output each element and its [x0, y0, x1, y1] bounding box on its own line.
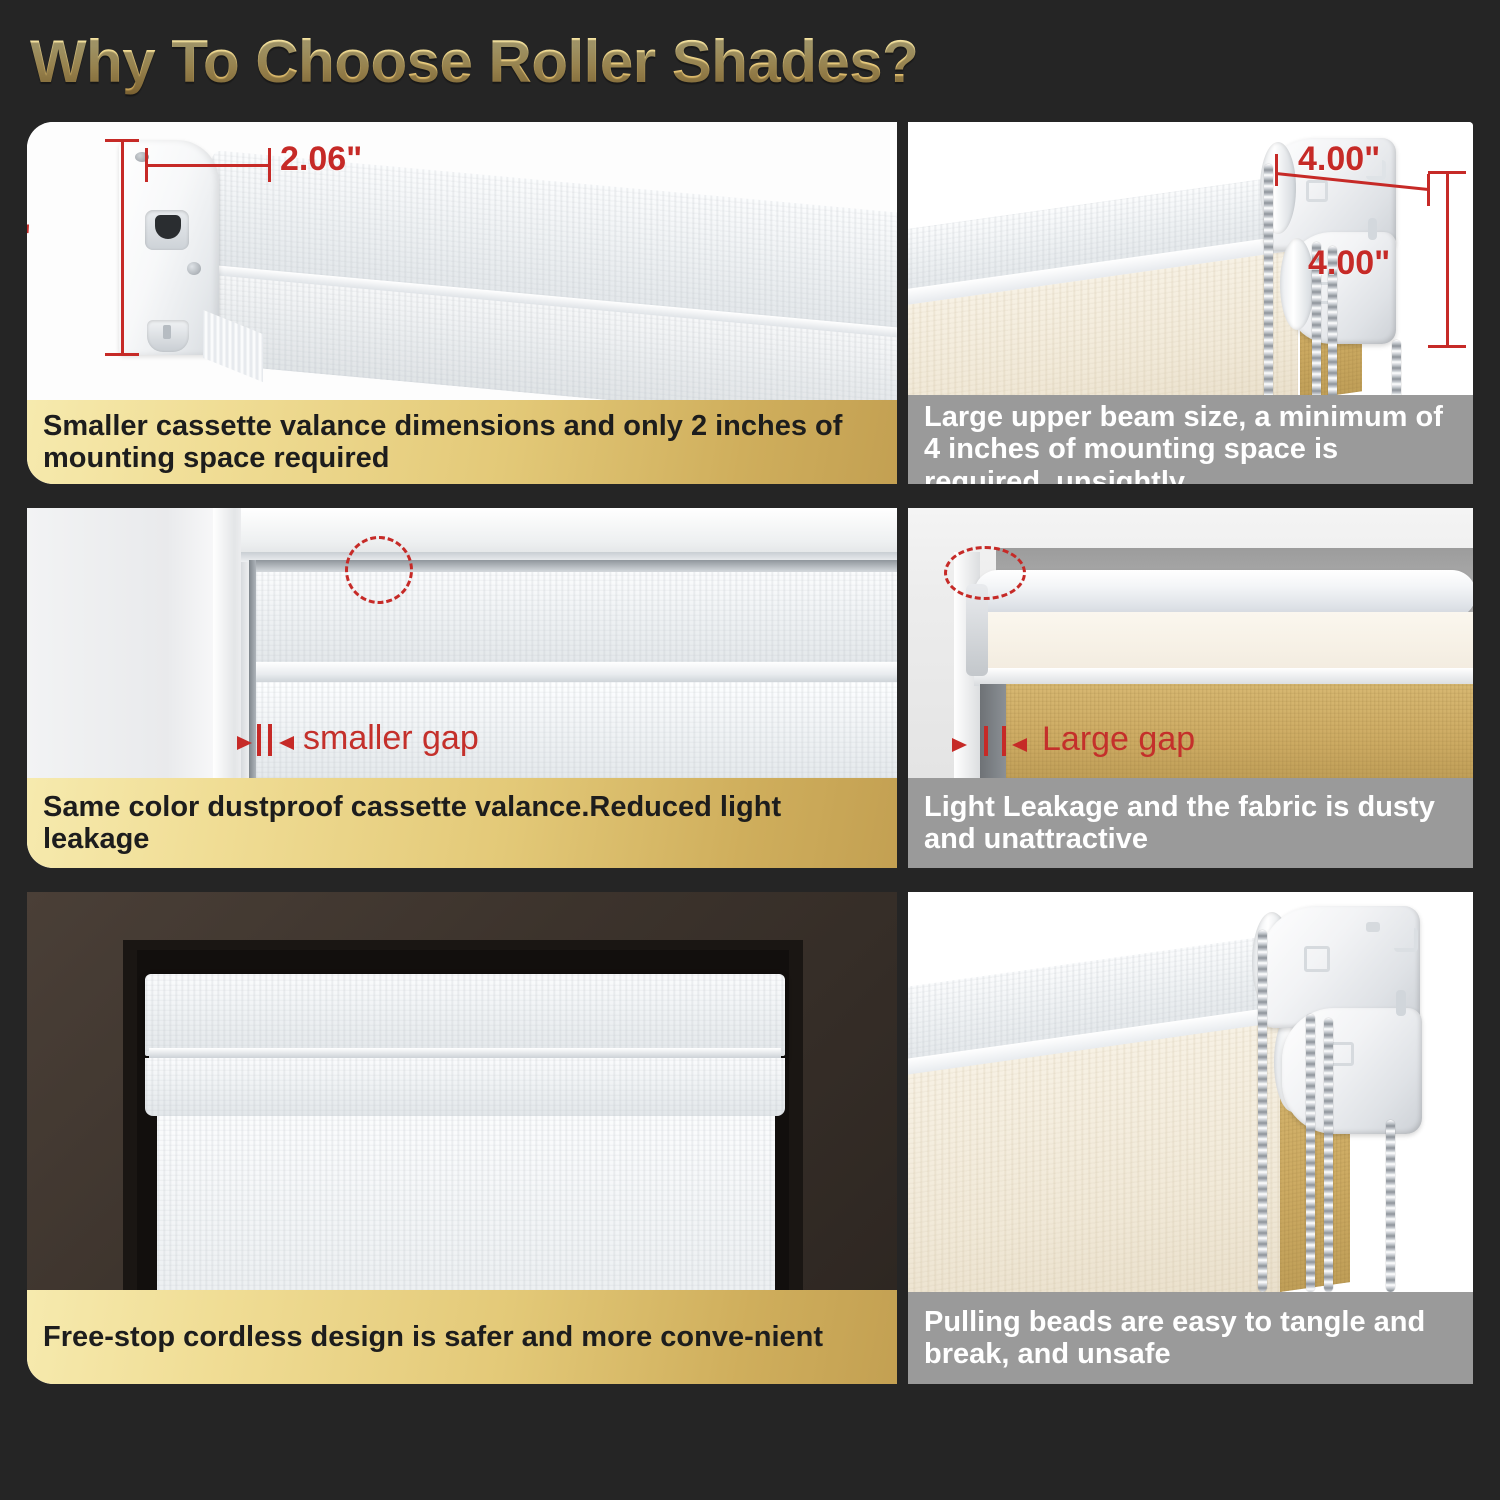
bead-chain [1306, 1014, 1315, 1292]
comparison-grid: 2.06" 5.49" Smaller cassette valance dim… [0, 0, 1500, 1500]
highlight-circle-icon [944, 546, 1026, 600]
width-dimension-tick-right [268, 148, 271, 182]
panel-mid-left: smaller gap Same color dustproof cassett… [27, 508, 897, 868]
beam-width-tick-left [1275, 154, 1278, 186]
beam-width-label: 4.00" [1298, 140, 1380, 179]
window-room-scene [27, 892, 897, 1290]
caption-top-left: Smaller cassette valance dimensions and … [27, 400, 897, 484]
gap-marker [984, 726, 988, 756]
smaller-gap-label: smaller gap [303, 719, 479, 758]
caption-mid-left: Same color dustproof cassette valance.Re… [27, 778, 897, 868]
panel-bottom-left: Free-stop cordless design is safer and m… [27, 892, 897, 1384]
beam-height-dimension-line [1446, 172, 1449, 348]
panel-top-left-photo: 2.06" 5.49" [27, 122, 897, 400]
height-dimension-tick-top [105, 139, 139, 142]
panel-top-right-photo: 4.00" 4.00" [908, 122, 1473, 395]
shade-fabric [157, 1116, 775, 1290]
gap-marker [268, 724, 272, 756]
bead-chain [1264, 164, 1273, 395]
gap-marker [257, 724, 261, 756]
caption-top-right: Large upper beam size, a minimum of 4 in… [908, 395, 1473, 484]
caption-top-left-text: Smaller cassette valance dimensions and … [43, 410, 881, 475]
beam-height-tick-top [1428, 171, 1466, 174]
width-dimension-tick-left [145, 148, 148, 182]
large-gap-label: Large gap [1042, 720, 1195, 759]
gap-marker [1002, 726, 1006, 756]
bead-chain [1324, 1018, 1333, 1292]
caption-bottom-right-text: Pulling beads are easy to tangle and bre… [924, 1306, 1457, 1371]
roller-tube [974, 570, 1473, 618]
panel-bottom-left-photo [27, 892, 897, 1290]
height-dimension-tick-bottom [105, 353, 139, 356]
panel-top-left: 2.06" 5.49" Smaller cassette valance dim… [27, 122, 897, 484]
panel-mid-right-photo: Large gap [908, 508, 1473, 778]
gap-arrow-left-icon [1012, 738, 1027, 752]
caption-mid-left-text: Same color dustproof cassette valance.Re… [43, 791, 881, 856]
bead-chain [1386, 1120, 1395, 1292]
gap-arrow-right-icon [237, 736, 252, 750]
caption-top-right-text: Large upper beam size, a minimum of 4 in… [924, 401, 1457, 484]
highlight-circle-icon [345, 536, 413, 604]
panel-top-right: 4.00" 4.00" Large upper beam size, a min… [908, 122, 1473, 484]
height-dimension-label: 5.49" [27, 218, 31, 257]
bead-chain [1258, 930, 1267, 1292]
cassette-headrail [145, 974, 785, 1056]
beam-height-tick-bottom [1428, 345, 1466, 348]
panel-mid-left-photo: smaller gap [27, 508, 897, 778]
caption-bottom-left-text: Free-stop cordless design is safer and m… [43, 1321, 823, 1353]
caption-mid-right: Light Leakage and the fabric is dusty an… [908, 778, 1473, 868]
panel-mid-right: Large gap Light Leakage and the fabric i… [908, 508, 1473, 868]
gap-arrow-right-icon [952, 738, 967, 752]
height-dimension-line [121, 140, 124, 356]
bead-chain-illustration [908, 892, 1473, 1292]
panel-bottom-right: Pulling beads are easy to tangle and bre… [908, 892, 1473, 1384]
beam-height-label: 4.00" [1308, 244, 1390, 283]
panel-bottom-right-photo [908, 892, 1473, 1292]
beam-width-tick-right [1427, 174, 1430, 206]
caption-mid-right-text: Light Leakage and the fabric is dusty an… [924, 791, 1457, 856]
caption-bottom-left: Free-stop cordless design is safer and m… [27, 1290, 897, 1384]
width-dimension-line [146, 164, 271, 167]
gap-arrow-left-icon [279, 736, 294, 750]
caption-bottom-right: Pulling beads are easy to tangle and bre… [908, 1292, 1473, 1384]
bead-chain [1392, 340, 1401, 395]
width-dimension-label: 2.06" [280, 140, 362, 179]
